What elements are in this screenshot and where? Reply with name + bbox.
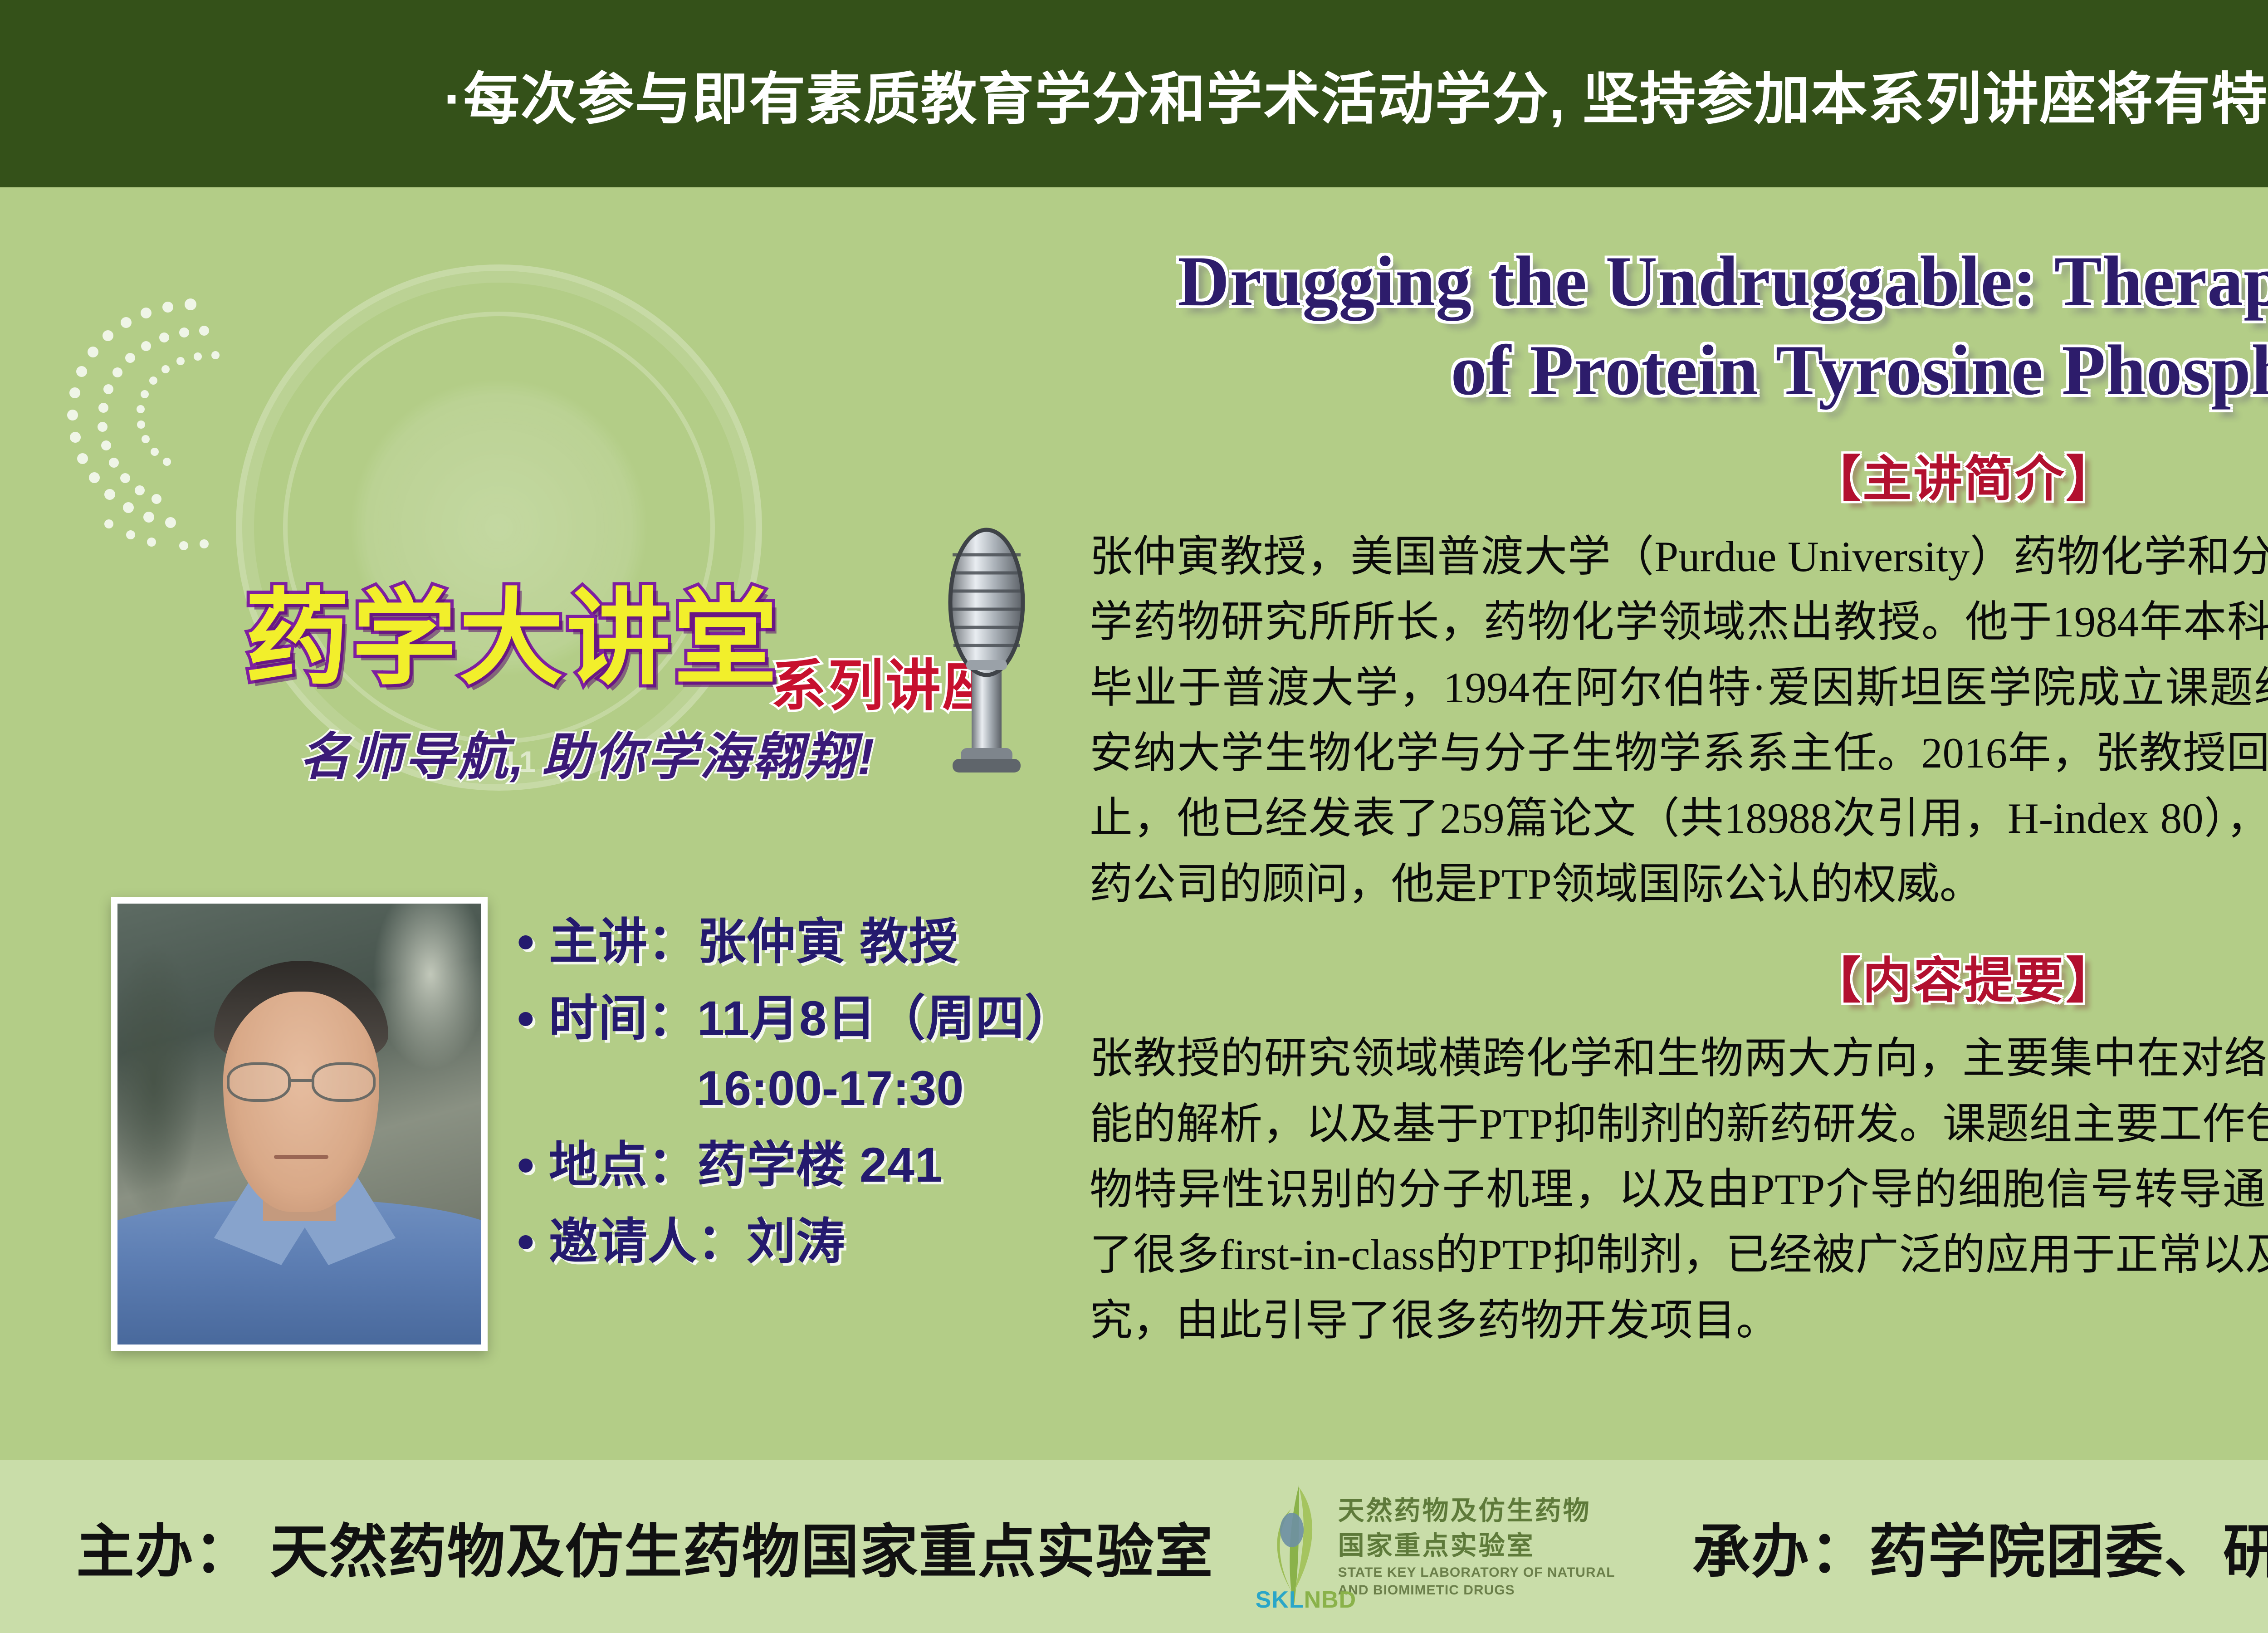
- footer-host-text: 主办： 天然药物及仿生药物国家重点实验室: [76, 1505, 1214, 1589]
- dotted-spiral-decoration: [54, 292, 336, 609]
- sklnbd-abbr-nbd: NBD: [1304, 1587, 1357, 1613]
- talk-title: Drugging the Undruggable: Therapeutic Ta…: [1080, 237, 2268, 415]
- bio-paragraph: 张仲寅教授，美国普渡大学（Purdue University）药物化学和分子药理…: [1080, 524, 2268, 917]
- event-details-list: • 主讲：张仲寅 教授 • 时间：11月8日（周四） 16:00-17:30 •…: [517, 913, 1152, 1290]
- top-banner: ·每次参与即有素质教育学分和学术活动学分, 坚持参加本系列讲座将有特殊奖励·: [0, 0, 2268, 187]
- poster-footer: 主办： 天然药物及仿生药物国家重点实验室 SKLNBD 天然药物及仿生药物 国家…: [0, 1460, 2268, 1633]
- sklnbd-abbreviation: SKLNBD: [1256, 1586, 1357, 1613]
- lecture-series-logo: 药学大讲堂 系列讲座 名师导航, 助你学海翱翔!: [245, 587, 1061, 795]
- sklnbd-cn-line1: 天然药物及仿生药物: [1338, 1494, 1615, 1529]
- talk-title-line2: of Protein Tyrosine Phosphatases: [1080, 326, 2268, 415]
- sklnbd-lab-logo: SKLNBD 天然药物及仿生药物 国家重点实验室 STATE KEY LABOR…: [1256, 1478, 1615, 1614]
- detail-inviter: • 邀请人：刘涛: [517, 1213, 1152, 1270]
- talk-info-column: Drugging the Undruggable: Therapeutic Ta…: [1080, 237, 2268, 1353]
- detail-location: • 地点：药学楼 241: [517, 1136, 1152, 1193]
- abstract-section-heading: 【内容提要】: [1080, 941, 2268, 1012]
- speaker-photo: [111, 897, 488, 1351]
- bio-section-heading: 【主讲简介】: [1080, 440, 2268, 510]
- microphone-icon: [934, 528, 1039, 809]
- footer-organizer-text: 承办：药学院团委、研究生会、学生会: [1692, 1505, 2268, 1589]
- logo-slogan: 名师导航, 助你学海翱翔!: [299, 716, 876, 789]
- sklnbd-leaf-icon: SKLNBD: [1256, 1483, 1333, 1610]
- abstract-paragraph: 张教授的研究领域横跨化学和生物两大方向，主要集中在对络氨酸磷酸酶（PTPs）结构…: [1080, 1026, 2268, 1353]
- talk-title-line1: Drugging the Undruggable: Therapeutic Ta…: [1080, 237, 2268, 326]
- sklnbd-cn-line2: 国家重点实验室: [1338, 1529, 1615, 1564]
- sklnbd-en-line1: STATE KEY LABORATORY OF NATURAL: [1338, 1564, 1615, 1581]
- banner-notice-text: ·每次参与即有素质教育学分和学术活动学分, 坚持参加本系列讲座将有特殊奖励·: [444, 53, 2268, 135]
- poster-main-area: 1941 药学大讲堂 系列讲座 名师导航, 助你学海翱翔!: [0, 187, 2268, 1460]
- sklnbd-logo-text: 天然药物及仿生药物 国家重点实验室 STATE KEY LABORATORY O…: [1338, 1494, 1615, 1599]
- sklnbd-en-line2: AND BIOMIMETIC DRUGS: [1338, 1581, 1615, 1599]
- detail-time: • 时间：11月8日（周四）: [517, 990, 1152, 1046]
- detail-speaker: • 主讲：张仲寅 教授: [517, 913, 1152, 970]
- sklnbd-abbr-skl: SKL: [1256, 1587, 1304, 1613]
